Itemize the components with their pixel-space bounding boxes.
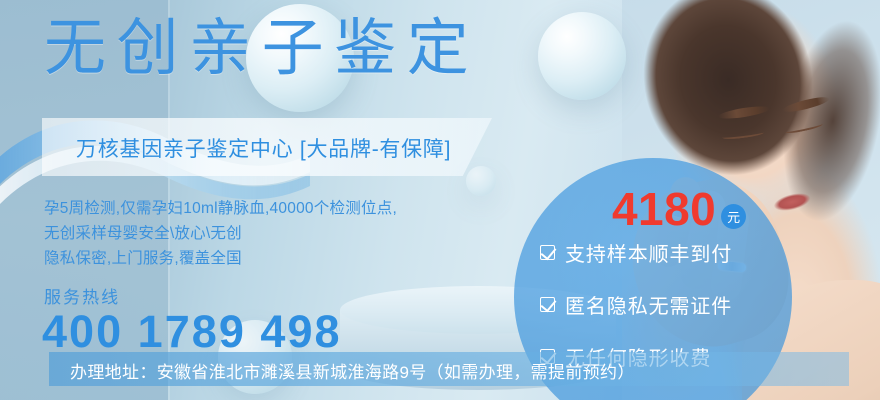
feature-list: 孕5周检测,仅需孕妇10ml静脉血,40000个检测位点, 无创采样母婴安全\放… [44,196,397,271]
checklist-item: 匿名隐私无需证件 [540,290,790,319]
feature-line: 孕5周检测,仅需孕妇10ml静脉血,40000个检测位点, [44,196,397,221]
page-title: 无创亲子鉴定 [44,18,479,80]
checklist-item-label: 匿名隐私无需证件 [565,290,732,319]
check-icon [540,245,555,260]
decorative-sphere [466,166,496,196]
hotline-label: 服务热线 [44,283,120,308]
subtitle-text: 万核基因亲子鉴定中心 [大品牌-有保障] [76,133,451,163]
check-icon [540,297,555,312]
address-text: 办理地址：安徽省淮北市濉溪县新城淮海路9号（如需办理，需提前预约） [70,358,635,383]
checklist-item: 支持样本顺丰到付 [540,238,790,267]
feature-line: 隐私保密,上门服务,覆盖全国 [44,246,397,271]
price-value: 4180 [612,186,716,232]
checklist-item-label: 支持样本顺丰到付 [565,238,732,267]
hotline-number[interactable]: 400 1789 498 [42,306,342,358]
promo-banner: 无创亲子鉴定 万核基因亲子鉴定中心 [大品牌-有保障] 孕5周检测,仅需孕妇10… [0,0,880,400]
price-unit-badge: 元 [721,204,746,229]
decorative-sphere [538,12,626,100]
price-block: 4180 元 [612,186,746,232]
feature-line: 无创采样母婴安全\放心\无创 [44,221,397,246]
